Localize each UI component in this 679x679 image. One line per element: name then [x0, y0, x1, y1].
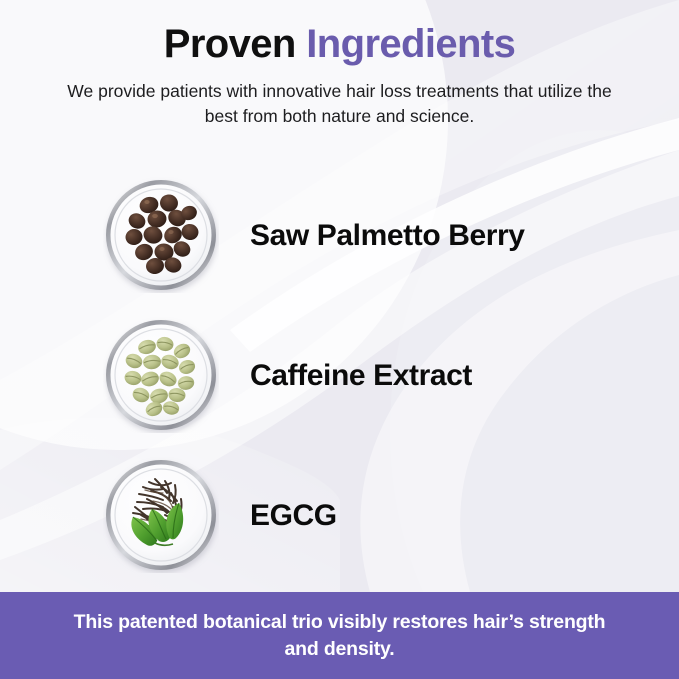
ingredient-image — [92, 310, 228, 440]
petri-dish-tea-leaves-icon — [103, 457, 219, 573]
ingredient-label: Saw Palmetto Berry — [250, 219, 525, 252]
page-title: Proven Ingredients — [0, 22, 679, 67]
page-subtitle: We provide patients with innovative hair… — [0, 79, 679, 129]
ingredient-image — [92, 450, 228, 580]
petri-dish-green-coffee-beans-icon — [103, 317, 219, 433]
ingredient-row: EGCG — [0, 445, 679, 585]
petri-dish-saw-palmetto-berries-icon — [103, 177, 219, 293]
ingredient-row: Caffeine Extract — [0, 305, 679, 445]
ingredients-infographic: Proven Ingredients We provide patients w… — [0, 0, 679, 679]
ingredient-label: EGCG — [250, 499, 337, 532]
ingredient-label: Caffeine Extract — [250, 359, 472, 392]
ingredient-list: Saw Palmetto Berry — [0, 165, 679, 585]
page-title-accent: Ingredients — [306, 22, 515, 66]
header: Proven Ingredients We provide patients w… — [0, 22, 679, 128]
footer-banner: This patented botanical trio visibly res… — [0, 592, 679, 679]
ingredient-row: Saw Palmetto Berry — [0, 165, 679, 305]
footer-banner-text: This patented botanical trio visibly res… — [0, 609, 679, 663]
ingredient-image — [92, 170, 228, 300]
page-title-primary: Proven — [164, 22, 307, 66]
